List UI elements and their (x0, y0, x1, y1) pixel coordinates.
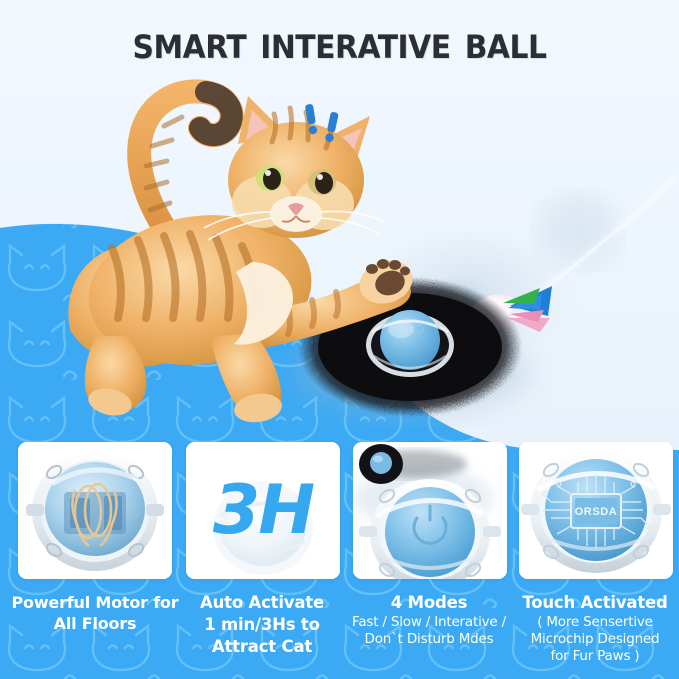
caption-row: Powerful Motor for All Floors Auto Activ… (0, 592, 679, 679)
caption-motor: Powerful Motor for All Floors (9, 592, 181, 634)
caption-touch-sub1: ( More Sensertive (509, 614, 679, 630)
caption-auto-activate: Auto Activate 1 min/3Hs to Attract Cat (176, 592, 348, 658)
caption-motor-line2: All Floors (9, 613, 181, 634)
feature-card-auto-activate[interactable]: 3H (186, 442, 340, 579)
caption-modes: 4 Modes Fast / Slow / Interative / Don`t… (343, 592, 515, 647)
cutaway-motor-icon (18, 442, 172, 579)
microchip-ball-icon: ORSDA (519, 442, 673, 579)
caption-auto-line2: 1 min/3Hs to (176, 614, 348, 636)
hero-illustration (0, 0, 679, 460)
product-infographic: Smart Interative Ball (0, 0, 679, 679)
feature-card-modes[interactable] (353, 442, 507, 579)
caption-auto-line3: Attract Cat (176, 636, 348, 658)
caption-modes-sub2: Don`t Disturb Mdes (343, 631, 515, 647)
feature-card-motor[interactable] (18, 442, 172, 579)
caption-touch-sub2: Microchip Designed (509, 631, 679, 647)
caption-touch-heading: Touch Activated (509, 592, 679, 613)
power-button-ball-icon (353, 442, 507, 579)
caption-touch: Touch Activated ( More Sensertive Microc… (509, 592, 679, 664)
feature-card-touch[interactable]: ORSDA (519, 442, 673, 579)
caption-motor-line1: Powerful Motor for (9, 592, 181, 613)
brand-chip-label: ORSDA (575, 506, 618, 518)
three-hour-label: 3H (186, 442, 340, 579)
caption-auto-line1: Auto Activate (176, 592, 348, 614)
caption-modes-sub1: Fast / Slow / Interative / (343, 614, 515, 630)
caption-modes-heading: 4 Modes (343, 592, 515, 613)
feature-card-row: 3H (0, 442, 679, 579)
caption-touch-sub3: for Fur Paws ) (509, 648, 679, 664)
